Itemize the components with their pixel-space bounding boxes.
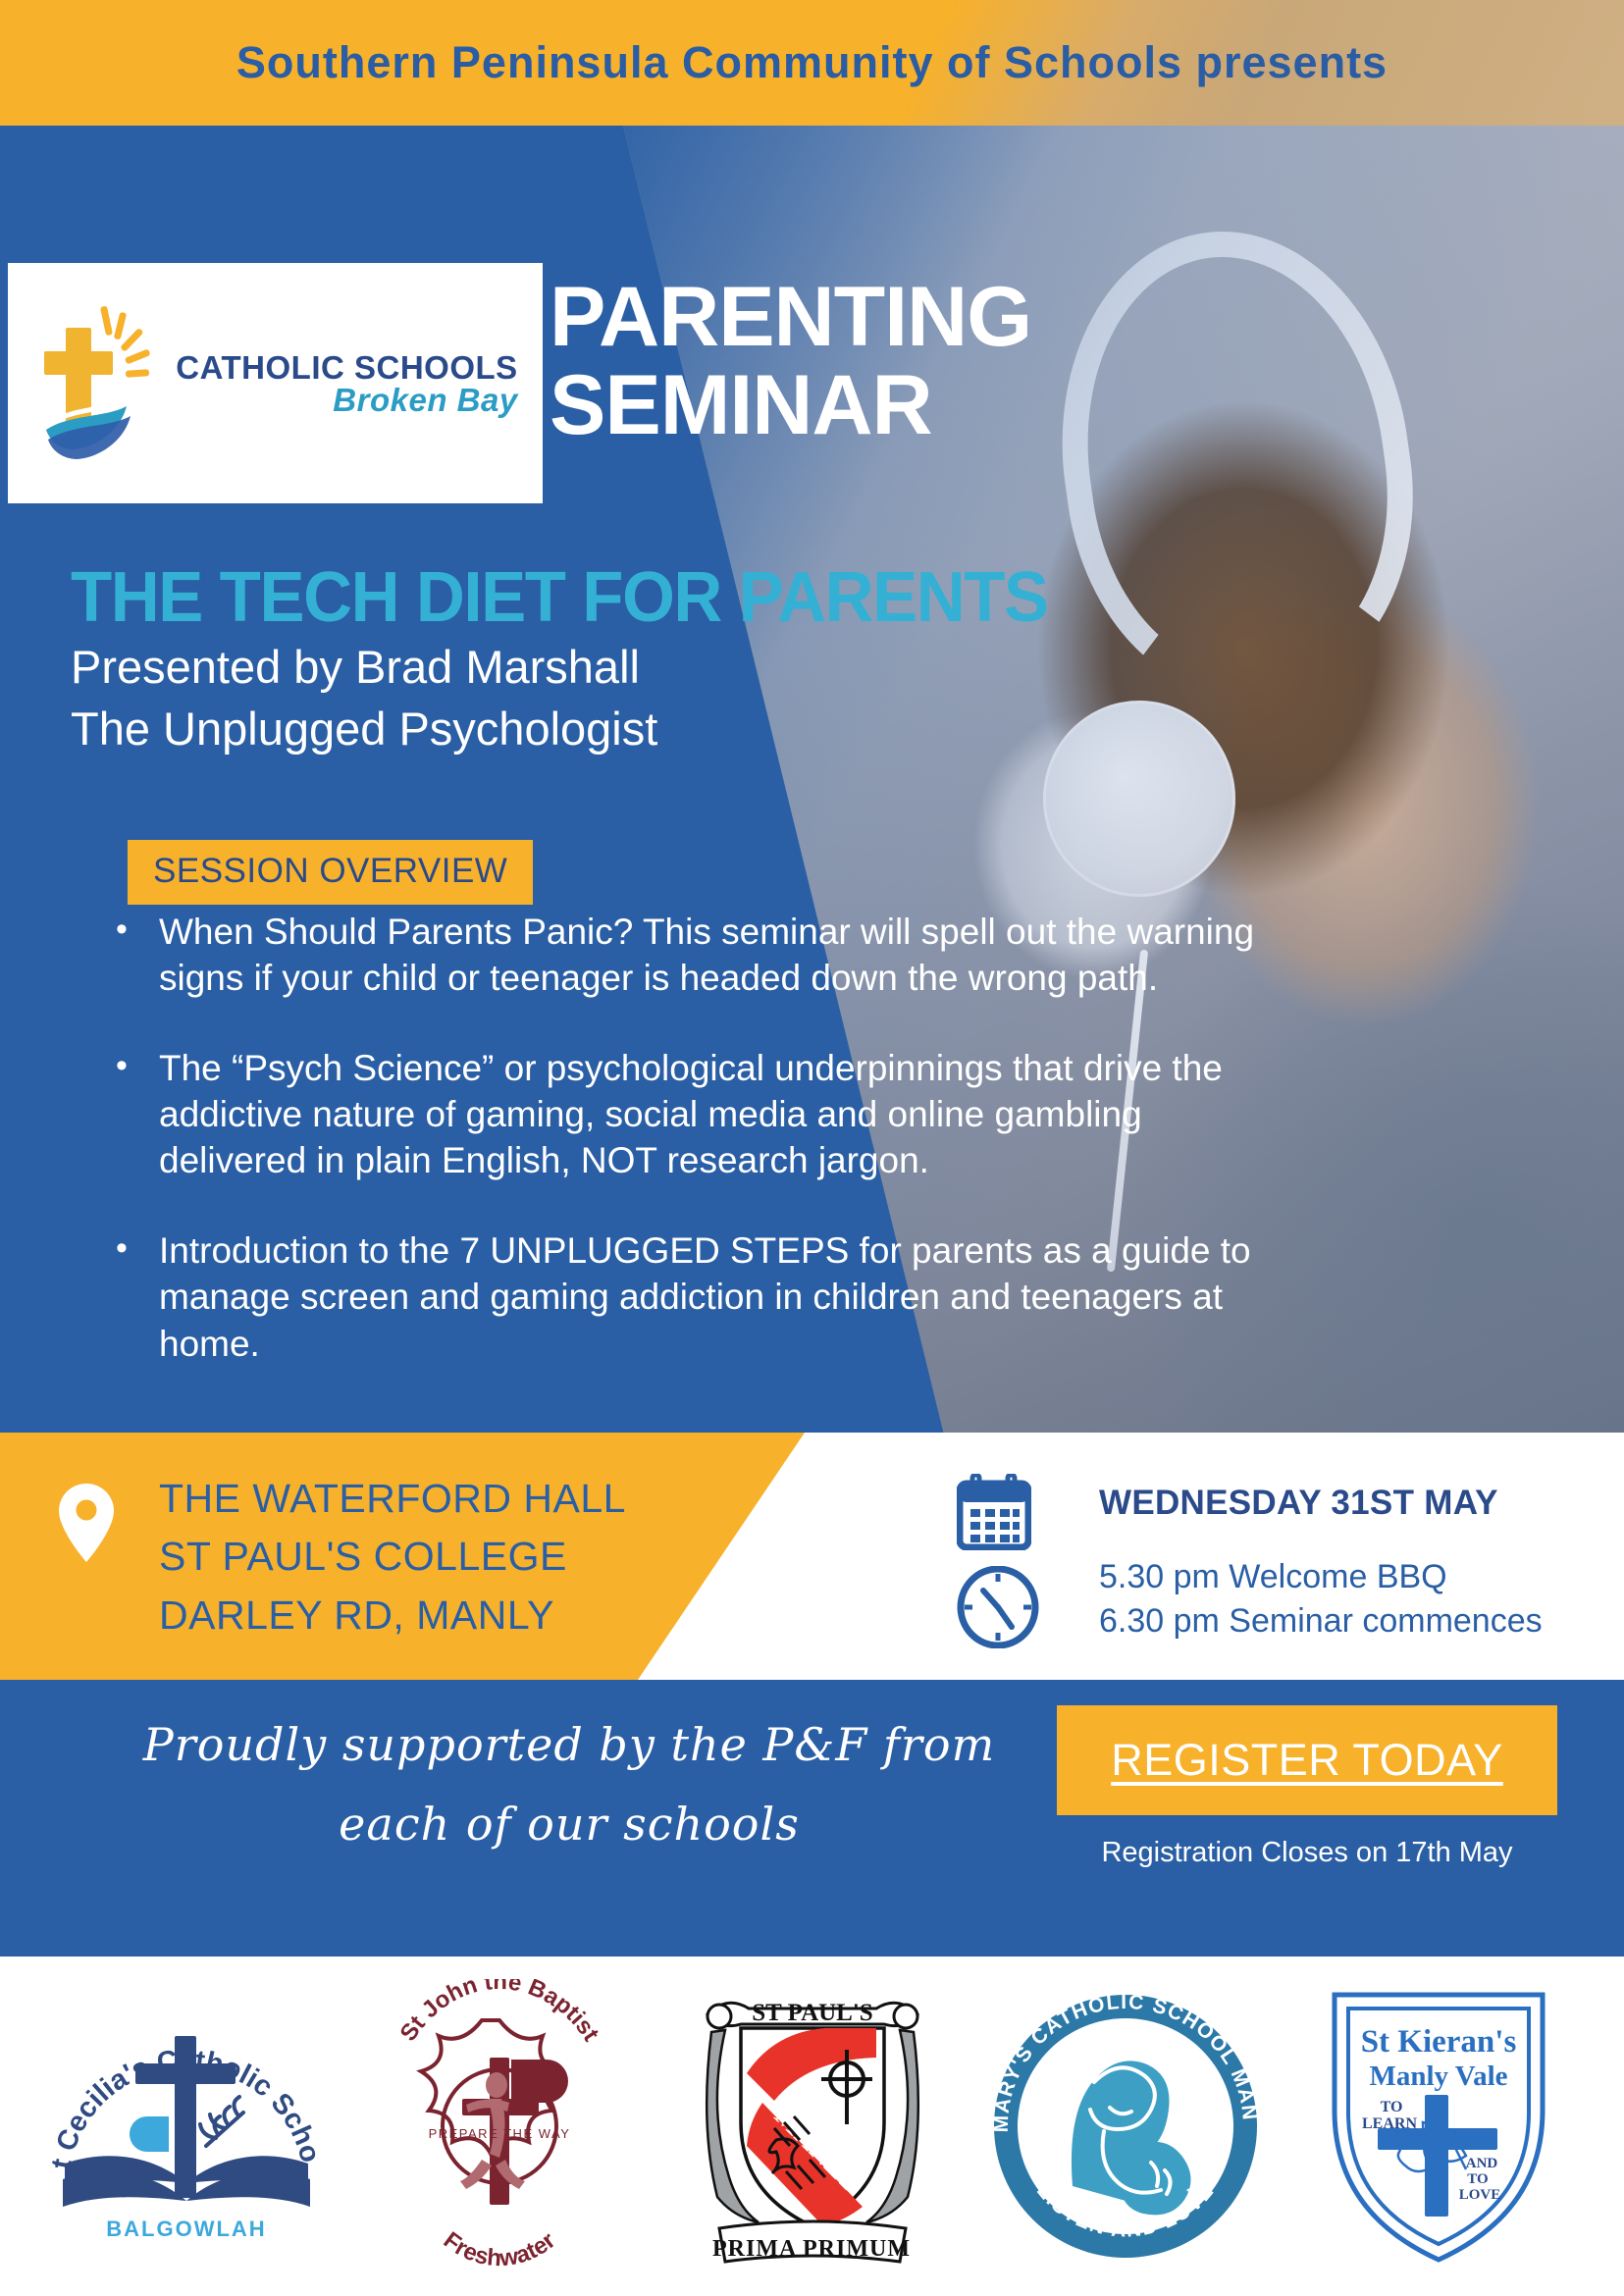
school-line-2: Manly Vale: [1369, 2061, 1507, 2092]
school-inner-text: PREPARE THE WAY: [428, 2126, 570, 2141]
logo-line-1: CATHOLIC SCHOOLS: [176, 351, 517, 384]
school-bottom-text: BALGOWLAH: [106, 2217, 266, 2241]
school-top-text: ST PAUL'S: [752, 2000, 872, 2026]
bullet-dot-icon: •: [116, 1045, 159, 1184]
school-motto-5: LOVE: [1458, 2187, 1500, 2203]
school-logo-st-kierans-manly-vale: St Kieran's Manly Vale TO LEARN AND TO L…: [1301, 1979, 1576, 2273]
school-motto-2: LEARN: [1361, 2115, 1416, 2132]
support-and-register-band: Proudly supported by the P&F from each o…: [0, 1680, 1624, 1957]
list-item-text: Introduction to the 7 UNPLUGGED STEPS fo…: [159, 1227, 1274, 1367]
bullet-dot-icon: •: [116, 909, 159, 1002]
school-logo-st-john-the-baptist: St John the Baptist Freshwater: [362, 1979, 637, 2273]
page-title: PARENTING SEMINAR: [550, 273, 1295, 450]
event-time-line-1: 5.30 pm Welcome BBQ: [1099, 1555, 1543, 1599]
school-bottom-text: PRIMA PRIMUM: [712, 2236, 911, 2262]
presenter-block: Presented by Brad Marshall The Unplugged…: [71, 636, 954, 760]
presents-headline: Southern Peninsula Community of Schools …: [0, 0, 1624, 126]
clock-icon: [957, 1566, 1039, 1648]
list-item: • The “Psych Science” or psychological u…: [116, 1045, 1274, 1184]
seminar-subtitle: THE TECH DIET FOR PARENTS: [71, 557, 1048, 638]
session-overview-badge: SESSION OVERVIEW: [128, 840, 533, 905]
school-line-1: St Kieran's: [1360, 2024, 1516, 2060]
poster-root: Southern Peninsula Community of Schools …: [0, 0, 1624, 2296]
presenter-name: Presented by Brad Marshall: [71, 636, 954, 698]
list-item-text: The “Psych Science” or psychological und…: [159, 1045, 1274, 1184]
list-item: • When Should Parents Panic? This semina…: [116, 909, 1274, 1002]
venue-address: THE WATERFORD HALL ST PAUL'S COLLEGE DAR…: [159, 1470, 626, 1644]
register-today-button[interactable]: REGISTER TODAY: [1057, 1705, 1557, 1815]
venue-line-3: DARLEY RD, MANLY: [159, 1587, 626, 1644]
proudly-supported-text: Proudly supported by the P&F from each o…: [118, 1705, 1021, 1863]
school-motto-3: AND: [1465, 2156, 1497, 2171]
session-overview-list: • When Should Parents Panic? This semina…: [116, 909, 1274, 1410]
venue-line-1: THE WATERFORD HALL: [159, 1470, 626, 1528]
school-motto-4: TO: [1467, 2171, 1488, 2187]
top-banner: Southern Peninsula Community of Schools …: [0, 0, 1624, 126]
event-date: WEDNESDAY 31ST MAY: [1099, 1484, 1498, 1523]
school-arc-text: St John the Baptist: [394, 1979, 603, 2046]
list-item: • Introduction to the 7 UNPLUGGED STEPS …: [116, 1227, 1274, 1367]
catholic-schools-broken-bay-logo: CATHOLIC SCHOOLS Broken Bay: [8, 263, 543, 503]
main-blue-panel: CATHOLIC SCHOOLS Broken Bay PARENTING SE…: [0, 126, 1624, 1433]
registration-closes-text: Registration Closes on 17th May: [1057, 1837, 1557, 1869]
page-title-line-2: SEMINAR: [550, 361, 1295, 449]
svg-text:St John the Baptist: St John the Baptist: [394, 1979, 603, 2046]
school-logo-st-marys-manly: ST. MARY'S CATHOLIC SCHOOL MANLY LISTEN …: [988, 1979, 1263, 2273]
page-title-line-1: PARENTING: [550, 273, 1295, 361]
event-time-line-2: 6.30 pm Seminar commences: [1099, 1599, 1543, 1644]
location-pin-icon: [59, 1484, 114, 1562]
presenter-tagline: The Unplugged Psychologist: [71, 698, 954, 759]
cross-and-waves-logo-icon: [32, 300, 170, 467]
partner-school-logos: St Cecilia's Catholic School: [0, 1957, 1624, 2296]
logo-line-2: Broken Bay: [333, 384, 517, 416]
school-bottom-text: Freshwater: [438, 2227, 559, 2272]
svg-text:Freshwater: Freshwater: [438, 2227, 559, 2272]
venue-line-2: ST PAUL'S COLLEGE: [159, 1528, 626, 1586]
school-logo-st-cecilias: St Cecilia's Catholic School: [49, 1979, 324, 2273]
proudly-supported-line-2: each of our schools: [118, 1785, 1021, 1864]
bullet-dot-icon: •: [116, 1227, 159, 1367]
list-item-text: When Should Parents Panic? This seminar …: [159, 909, 1274, 1002]
venue-and-schedule-band: THE WATERFORD HALL ST PAUL'S COLLEGE DAR…: [0, 1433, 1624, 1680]
school-motto-1: TO: [1380, 2099, 1402, 2115]
school-logo-st-pauls-manly: ST PAUL'S MANLY: [675, 1979, 950, 2273]
event-times: 5.30 pm Welcome BBQ 6.30 pm Seminar comm…: [1099, 1555, 1543, 1644]
proudly-supported-line-1: Proudly supported by the P&F from: [143, 1718, 995, 1771]
calendar-icon: [957, 1474, 1031, 1550]
